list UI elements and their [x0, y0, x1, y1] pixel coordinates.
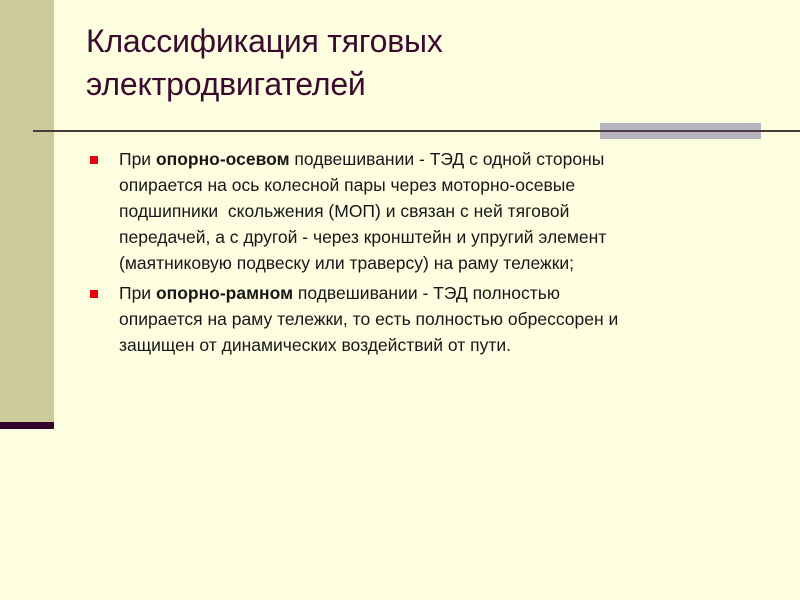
emphasis-text: опорно-рамном [156, 283, 293, 303]
list-item: При опорно-осевом подвешивании - ТЭД с о… [86, 146, 776, 276]
body-text: опирается на раму тележки, то есть полно… [119, 309, 618, 329]
bullet-list: При опорно-осевом подвешивании - ТЭД с о… [86, 146, 776, 362]
list-item-line: подшипники скольжения (МОП) и связан с н… [119, 198, 776, 224]
list-item: При опорно-рамном подвешивании - ТЭД пол… [86, 280, 776, 358]
title-divider-rule-overlay [600, 130, 761, 132]
body-text: (маятниковую подвеску или траверсу) на р… [119, 253, 574, 273]
left-accent-band [0, 0, 54, 422]
list-item-line: При опорно-рамном подвешивании - ТЭД пол… [119, 280, 776, 306]
body-text: При [119, 283, 156, 303]
body-text: При [119, 149, 156, 169]
body-text: передачей, а с другой - через кронштейн … [119, 227, 606, 247]
list-item-line: (маятниковую подвеску или траверсу) на р… [119, 250, 776, 276]
left-accent-band-footer-rule [0, 422, 54, 429]
body-text: опирается на ось колесной пары через мот… [119, 175, 575, 195]
slide-canvas: Классификация тяговых электродвигателей … [0, 0, 800, 600]
list-item-line: опирается на раму тележки, то есть полно… [119, 306, 776, 332]
list-item-line: передачей, а с другой - через кронштейн … [119, 224, 776, 250]
body-text: подшипники скольжения (МОП) и связан с н… [119, 201, 569, 221]
red-square-bullet-icon [90, 156, 98, 164]
body-text: защищен от динамических воздействий от п… [119, 335, 511, 355]
body-text: подвешивании - ТЭД с одной стороны [290, 149, 605, 169]
red-square-bullet-icon [90, 290, 98, 298]
page-title-line-2: электродвигателей [86, 63, 766, 106]
page-title: Классификация тяговых электродвигателей [86, 20, 766, 106]
emphasis-text: опорно-осевом [156, 149, 290, 169]
page-title-line-1: Классификация тяговых [86, 20, 766, 63]
list-item-line: При опорно-осевом подвешивании - ТЭД с о… [119, 146, 776, 172]
list-item-line: защищен от динамических воздействий от п… [119, 332, 776, 358]
body-text: подвешивании - ТЭД полностью [293, 283, 560, 303]
list-item-line: опирается на ось колесной пары через мот… [119, 172, 776, 198]
